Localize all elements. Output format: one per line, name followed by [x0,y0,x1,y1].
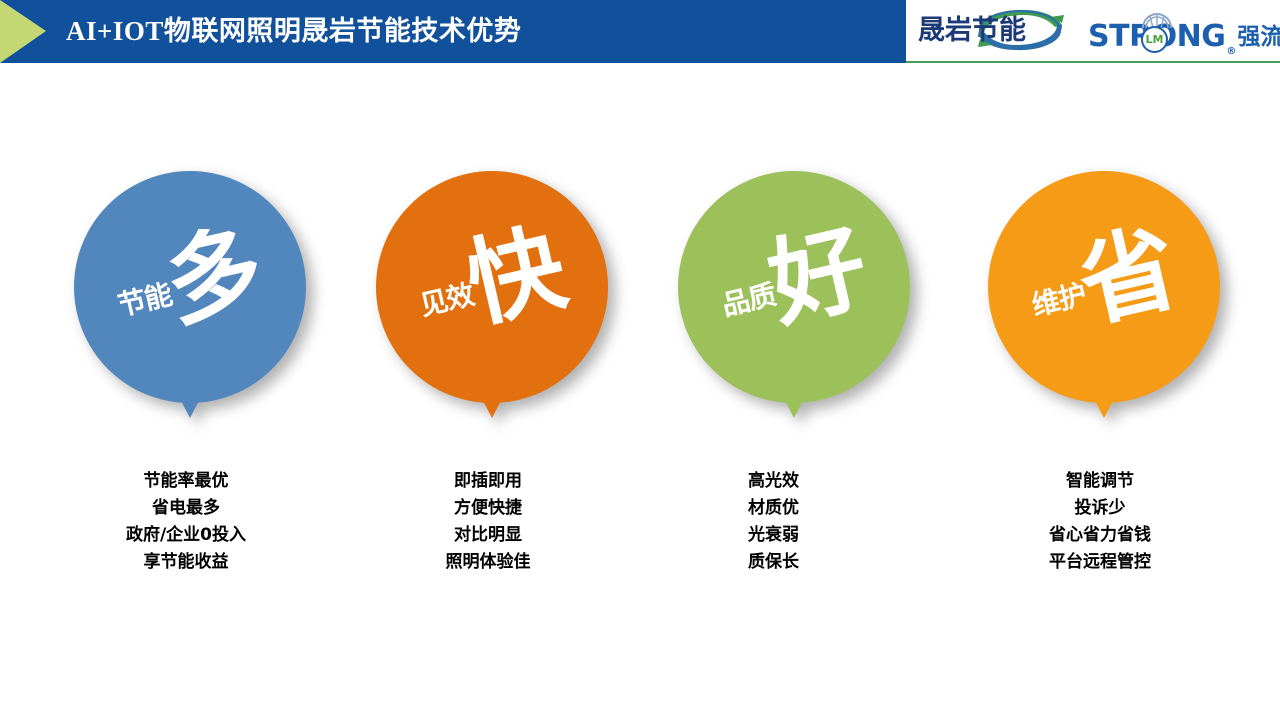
content-stage: 节能 多 节能率最优 省电最多 政府/企业0投入 享节能收益 见效 快 [0,63,1280,720]
bubble-maintenance-saving[interactable]: 维护 省 [950,171,1250,471]
bullet-item: 材质优 [748,495,940,522]
bubble-big-word: 省 [1072,223,1185,329]
bullet-item: 政府/企业0投入 [36,522,336,549]
logo-shengyan: 晟岩节能 [914,5,1086,57]
bullet-item: 即插即用 [338,468,638,495]
bubble-small-word: 节能 [115,281,174,320]
bullet-item: 省电最多 [36,495,336,522]
bullet-item: 质保长 [748,549,940,576]
bullet-item: 节能率最优 [36,468,336,495]
bubble-small-word: 见效 [417,281,476,320]
bullet-list-fast-effect: 即插即用 方便快捷 对比明显 照明体验佳 [338,468,638,576]
bubble-big-word: 多 [158,223,271,329]
bullet-item: 享节能收益 [36,549,336,576]
bubble-small-word: 维护 [1029,281,1088,320]
brand-logo: 晟岩节能 STRONG LM ® 强流明照明 [906,0,1280,63]
feature-column-energy-saving: 节能 多 节能率最优 省电最多 政府/企业0投入 享节能收益 [36,63,336,720]
bullet-list-quality-good: 高光效 材质优 光衰弱 质保长 [640,468,940,576]
registered-trademark-icon: ® [1226,47,1236,57]
bubble-label: 节能 多 [51,148,329,426]
bubble-label: 品质 好 [655,148,933,426]
logo-strong: STRONG LM ® 强流明照明 [1088,5,1280,57]
bullet-item: 高光效 [748,468,940,495]
page-header: AI+IOT物联网照明晟岩节能技术优势 晟岩节能 [0,0,1280,63]
bullet-item: 智能调节 [950,468,1250,495]
bubble-fast-effect[interactable]: 见效 快 [338,171,638,471]
bullet-item: 投诉少 [950,495,1250,522]
bullet-list-maintenance-saving: 智能调节 投诉少 省心省力省钱 平台远程管控 [950,468,1250,576]
chevron-right-icon [0,0,46,63]
logo-shengyan-text: 晟岩节能 [918,16,1026,46]
feature-column-fast-effect: 见效 快 即插即用 方便快捷 对比明显 照明体验佳 [338,63,638,720]
logo-qiangliuming-text: 强流明照明 [1237,17,1280,57]
page-title: AI+IOT物联网照明晟岩节能技术优势 [66,0,521,63]
feature-column-maintenance-saving: 维护 省 智能调节 投诉少 省心省力省钱 平台远程管控 [950,63,1250,720]
bullet-item: 方便快捷 [338,495,638,522]
logo-lm-badge: LM [1141,26,1168,53]
bubble-small-word: 品质 [719,281,778,320]
bubble-label: 见效 快 [353,148,631,426]
feature-column-quality-good: 品质 好 高光效 材质优 光衰弱 质保长 [640,63,940,720]
bullet-item: 省心省力省钱 [950,522,1250,549]
bubble-quality-good[interactable]: 品质 好 [640,171,940,471]
bullet-list-energy-saving: 节能率最优 省电最多 政府/企业0投入 享节能收益 [36,468,336,576]
bubble-big-word: 好 [762,223,875,329]
bullet-item: 光衰弱 [748,522,940,549]
bubble-energy-saving[interactable]: 节能 多 [36,171,336,471]
bullet-item: 平台远程管控 [950,549,1250,576]
bullet-item: 对比明显 [338,522,638,549]
bullet-item: 照明体验佳 [338,549,638,576]
bubble-big-word: 快 [460,223,573,329]
bubble-label: 维护 省 [965,148,1243,426]
